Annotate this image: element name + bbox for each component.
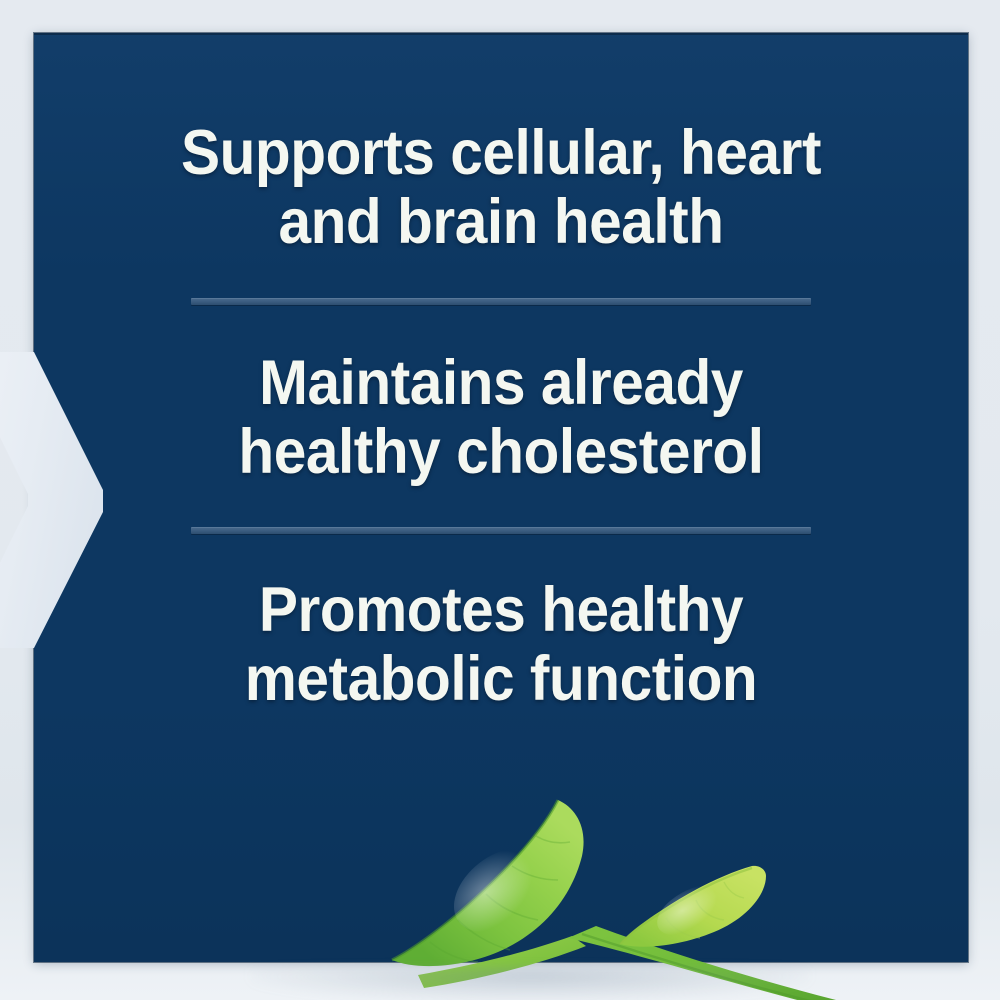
benefit-line: metabolic function [148, 645, 855, 714]
divider-1 [191, 298, 811, 305]
benefits-graphic: Supports cellular, heart and brain healt… [0, 0, 1000, 1000]
benefit-item-metabolic: Promotes healthy metabolic function [148, 576, 855, 715]
leaf-drop-shadow [250, 968, 810, 1000]
benefit-item-cellular-heart-brain: Supports cellular, heart and brain healt… [148, 119, 855, 258]
benefit-line: Maintains already [148, 349, 855, 418]
benefit-line: and brain health [148, 188, 855, 257]
benefit-line: healthy cholesterol [148, 418, 855, 487]
benefit-item-cholesterol: Maintains already healthy cholesterol [148, 349, 855, 488]
benefit-line: Promotes healthy [148, 576, 855, 645]
divider-2 [191, 527, 811, 534]
benefits-content: Supports cellular, heart and brain healt… [34, 33, 968, 962]
benefit-line: Supports cellular, heart [148, 119, 855, 188]
